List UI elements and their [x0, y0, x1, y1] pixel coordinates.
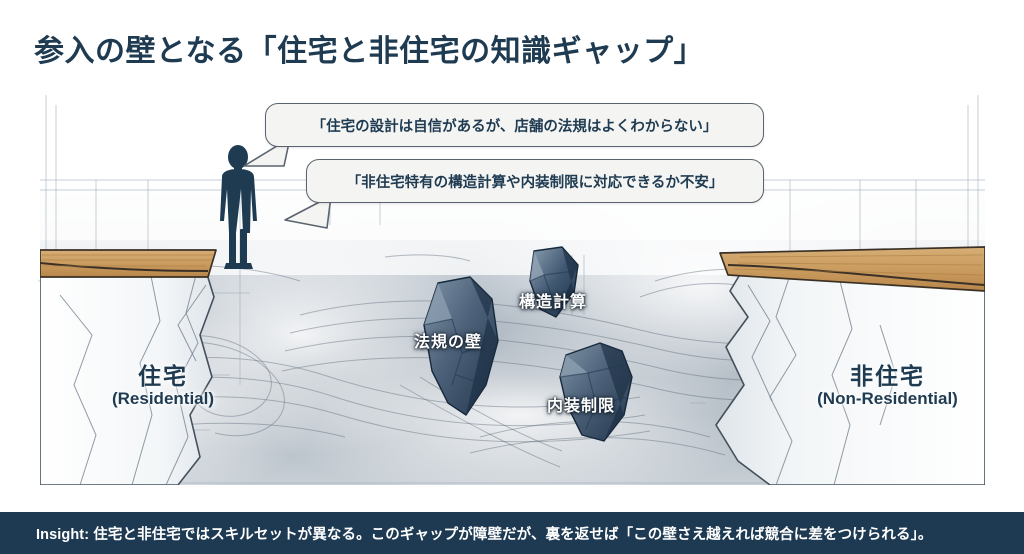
rock-label-legal-wall: 法規の壁: [414, 328, 482, 352]
region-label-non-residential: 非住宅 (Non-Residential): [780, 363, 995, 410]
region-label-non-residential-en: (Non-Residential): [780, 389, 995, 409]
slide-root: 参入の壁となる「住宅と非住宅の知識ギャップ」: [0, 0, 1024, 554]
rock-label-structural-calc: 構造計算: [519, 288, 587, 312]
region-label-non-residential-jp: 非住宅: [780, 363, 995, 389]
speech-bubble-1-text: 「住宅の設計は自信があるが、店舗の法規はよくわからない」: [312, 115, 718, 136]
speech-bubble-2: 「非住宅特有の構造計算や内装制限に対応できるか不安」: [306, 159, 764, 203]
speech-bubble-1: 「住宅の設計は自信があるが、店舗の法規はよくわからない」: [265, 103, 764, 147]
rock-label-interior-restriction: 内装制限: [547, 392, 615, 416]
region-label-residential-jp: 住宅: [68, 363, 258, 389]
region-label-residential-en: (Residential): [68, 389, 258, 409]
speech-bubble-2-text: 「非住宅特有の構造計算や内装制限に対応できるか不安」: [347, 171, 724, 192]
insight-banner-text: Insight: 住宅と非住宅ではスキルセットが異なる。このギャップが障壁だが、…: [0, 523, 933, 544]
insight-banner: Insight: 住宅と非住宅ではスキルセットが異なる。このギャップが障壁だが、…: [0, 512, 1024, 554]
region-label-residential: 住宅 (Residential): [68, 363, 258, 410]
page-title: 参入の壁となる「住宅と非住宅の知識ギャップ」: [34, 26, 704, 70]
left-wood-ledge: [40, 250, 216, 277]
